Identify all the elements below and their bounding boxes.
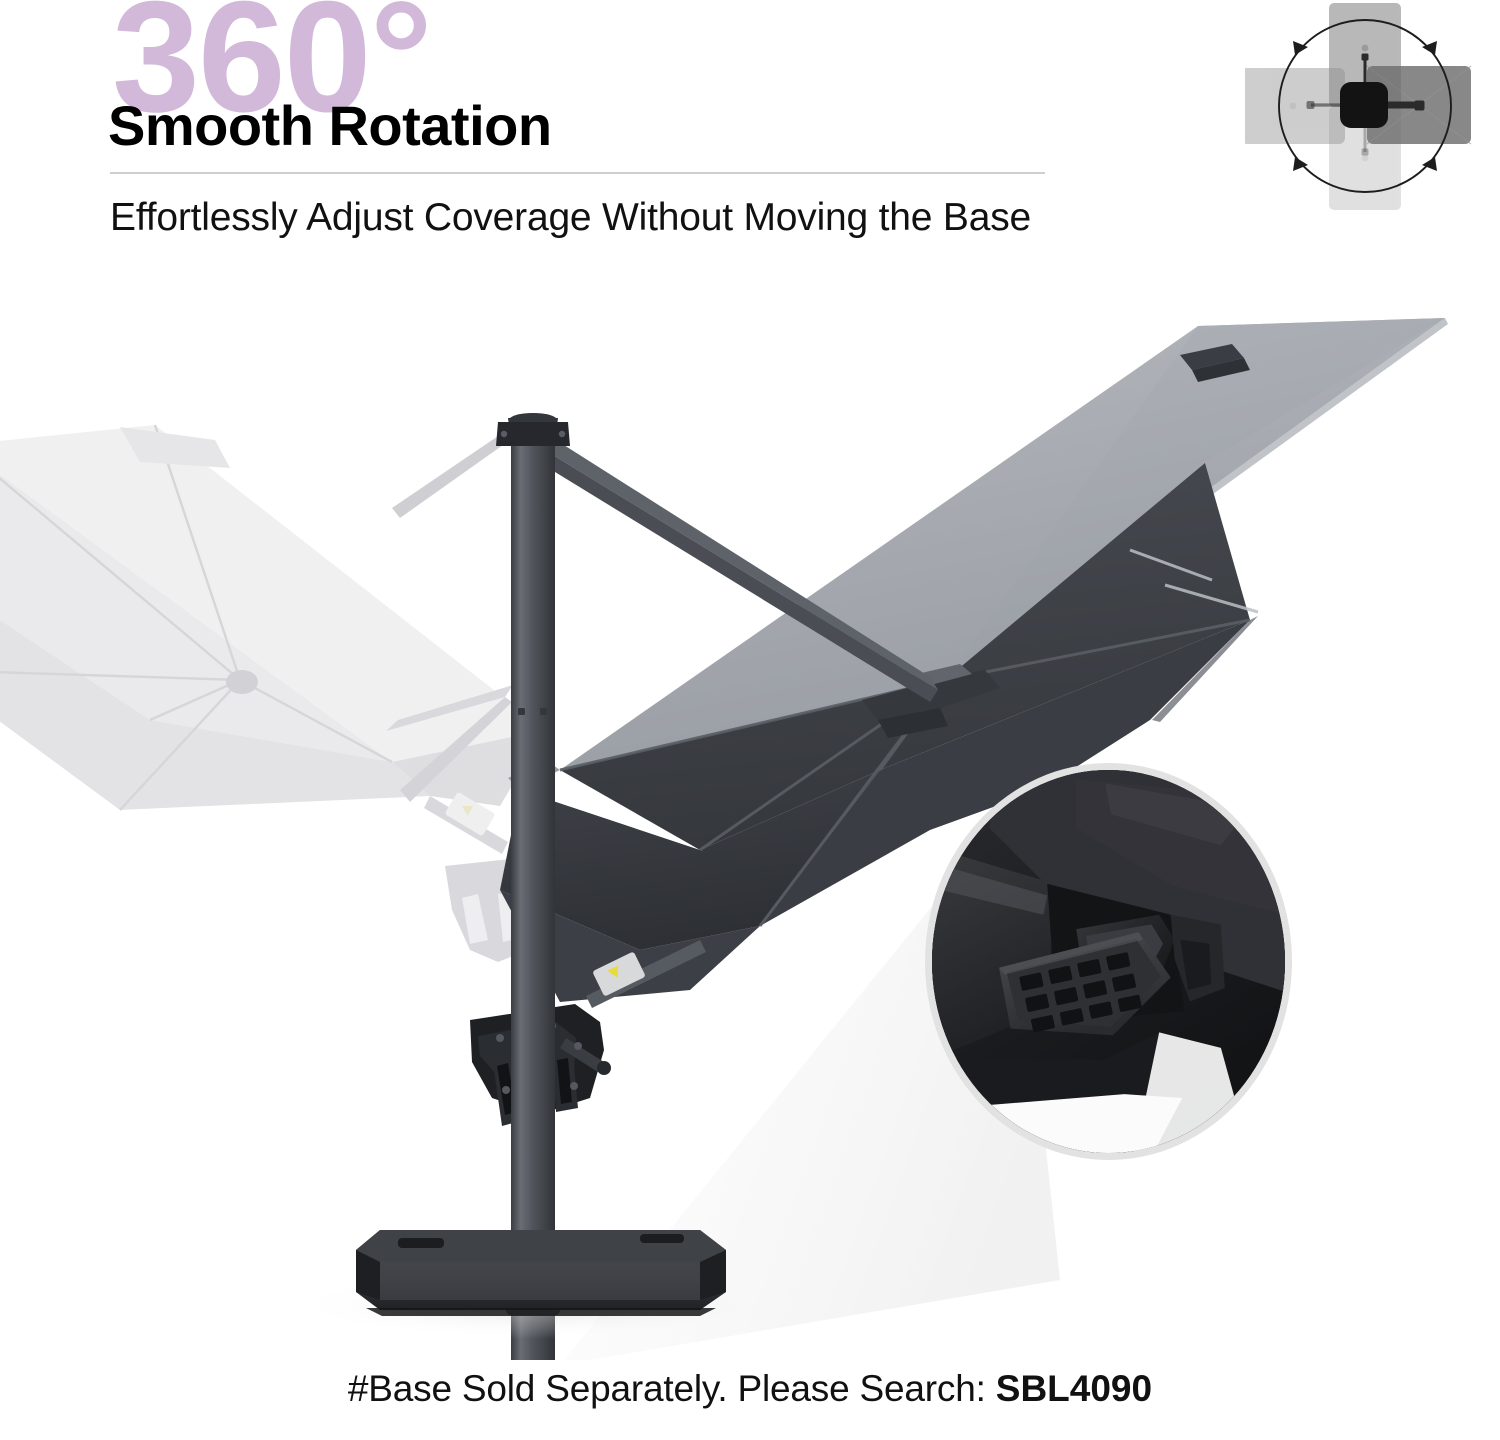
- rotation-diagram-icon: [1245, 2, 1485, 214]
- product-photo: [0, 250, 1500, 1360]
- ghost-umbrella-previous-position: [0, 425, 545, 962]
- footer-sku: SBL4090: [996, 1368, 1152, 1409]
- product-feature-image: 360° Smooth Rotation Effortlessly Adjust…: [0, 0, 1500, 1440]
- footer-note: #Base Sold Separately. Please Search: SB…: [0, 1368, 1500, 1410]
- umbrella-base: [290, 1230, 790, 1339]
- page-title: Smooth Rotation: [108, 96, 552, 156]
- page-subtitle: Effortlessly Adjust Coverage Without Mov…: [110, 196, 1031, 240]
- header-divider: [110, 172, 1045, 174]
- foot-pedal-closeup-inset: [925, 763, 1292, 1160]
- base-block-icon: [1340, 82, 1388, 128]
- footer-note-text: #Base Sold Separately. Please Search:: [348, 1368, 996, 1409]
